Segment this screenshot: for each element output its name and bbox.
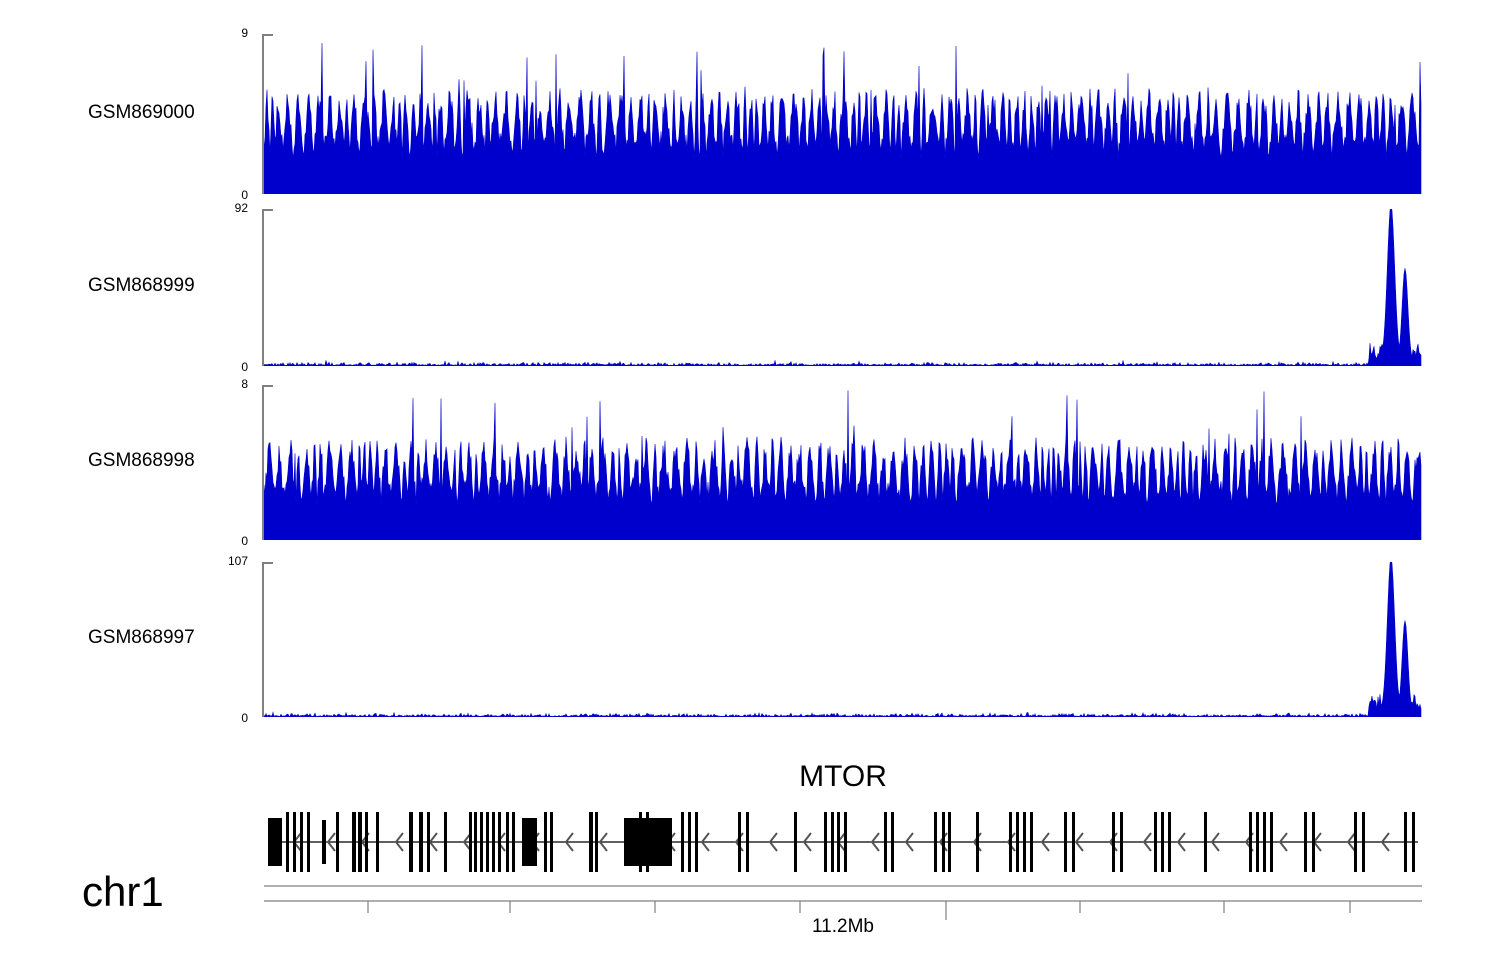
coordinate-ruler[interactable]: 11.2Mb bbox=[264, 880, 1422, 976]
signal-plot bbox=[264, 34, 1422, 194]
axis-numbers: 8 0 bbox=[212, 385, 256, 540]
axis-max-value: 9 bbox=[241, 26, 248, 40]
signal-track: GSM868997 107 0 bbox=[0, 562, 1500, 717]
axis-numbers: 107 0 bbox=[212, 562, 256, 717]
signal-track: GSM868999 92 0 bbox=[0, 209, 1500, 366]
axis-min-value: 0 bbox=[241, 188, 248, 202]
axis-numbers: 9 0 bbox=[212, 34, 256, 194]
signal-track: GSM868998 8 0 bbox=[0, 385, 1500, 540]
signal-plot bbox=[264, 562, 1422, 717]
gene-model-diagram[interactable] bbox=[264, 804, 1422, 880]
axis-min-value: 0 bbox=[241, 534, 248, 548]
signal-plot bbox=[264, 385, 1422, 540]
axis-min-value: 0 bbox=[241, 360, 248, 374]
axis-max-value: 8 bbox=[241, 377, 248, 391]
axis-numbers: 92 0 bbox=[212, 209, 256, 366]
chromosome-label: chr1 bbox=[82, 868, 164, 916]
signal-plot bbox=[264, 209, 1422, 366]
gene-track: MTOR bbox=[0, 760, 1500, 880]
axis-min-value: 0 bbox=[241, 711, 248, 725]
signal-track: GSM869000 9 0 bbox=[0, 34, 1500, 194]
axis-max-value: 107 bbox=[228, 554, 248, 568]
genome-browser: GSM869000 9 0 GSM868999 92 0 GSM868998 bbox=[0, 0, 1500, 980]
ruler-center-coordinate: 11.2Mb bbox=[264, 916, 1422, 938]
gene-name-label: MTOR bbox=[264, 760, 1422, 794]
axis-max-value: 92 bbox=[235, 201, 248, 215]
